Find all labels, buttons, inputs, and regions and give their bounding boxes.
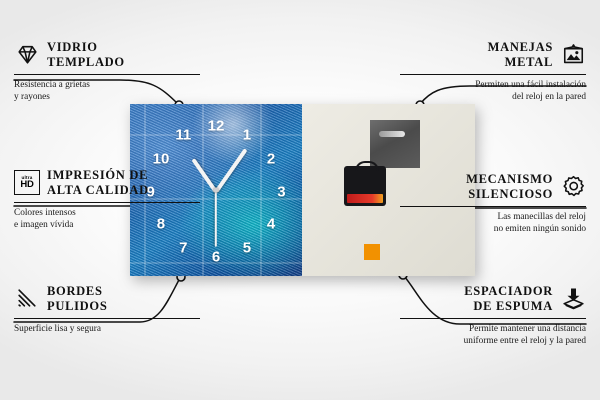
foam-spacer [364,244,380,260]
picture-hanger-icon [560,42,586,68]
product-infographic: 12 1 2 3 4 5 6 7 8 9 10 11 [0,0,600,400]
feature-bordes-pulidos: BORDES PULIDOS Superficie lisa y segura [14,284,200,335]
clock-numeral-1: 1 [243,127,251,142]
clock-numeral-4: 4 [267,217,275,232]
metal-hanger-plate [370,120,420,168]
feature-description: Permiten una fácil instalación del reloj… [400,79,586,104]
hd-icon-large-label: HD [20,180,33,190]
feature-divider [14,202,200,204]
clock-center-pin [214,188,219,193]
feature-title: MECANISMO SILENCIOSO [466,172,553,202]
clock-numeral-12: 12 [208,119,225,134]
clock-numeral-11: 11 [175,127,191,142]
feature-description: Colores intensos e imagen vívida [14,207,200,232]
diamond-icon [14,42,40,68]
clock-numeral-10: 10 [153,152,170,167]
feature-mecanismo-silencioso: MECANISMO SILENCIOSO Las manecillas del … [400,172,586,236]
feature-title: VIDRIO TEMPLADO [47,40,125,70]
feature-title: MANEJAS METAL [488,40,553,70]
feature-espaciador-espuma: ESPACIADOR DE ESPUMA Permite mantener un… [400,284,586,348]
foam-spacer-icon [560,286,586,312]
clock-second-hand [215,191,217,247]
feature-title: IMPRESIÓN DE ALTA CALIDAD [47,168,149,198]
polished-edges-icon [14,286,40,312]
feature-divider [400,206,586,208]
clock-numeral-3: 3 [277,184,285,199]
clock-numeral-7: 7 [179,241,187,256]
clock-numeral-5: 5 [243,241,251,256]
feature-divider [400,74,586,76]
feature-title: ESPACIADOR DE ESPUMA [464,284,553,314]
ultra-hd-icon: ultra HD [14,170,40,196]
feature-vidrio-templado: VIDRIO TEMPLADO Resistencia a grietas y … [14,40,200,104]
clock-minute-hand [214,148,247,193]
feature-divider [14,318,200,320]
feature-divider [400,318,586,320]
feature-description: Superficie lisa y segura [14,323,200,335]
quartz-movement [344,166,386,206]
feature-description: Resistencia a grietas y rayones [14,79,200,104]
feature-description: Las manecillas del reloj no emiten ningú… [400,211,586,236]
feature-manejas-metal: MANEJAS METAL Permiten una fácil instala… [400,40,586,104]
feature-title: BORDES PULIDOS [47,284,107,314]
feature-impresion-alta-calidad: ultra HD IMPRESIÓN DE ALTA CALIDAD Color… [14,168,200,232]
battery [347,194,383,203]
feature-divider [14,74,200,76]
clock-numeral-2: 2 [267,152,275,167]
movement-hook [355,161,379,173]
gear-icon [560,174,586,200]
feature-description: Permite mantener una distancia uniforme … [400,323,586,348]
clock-numeral-6: 6 [212,250,220,265]
